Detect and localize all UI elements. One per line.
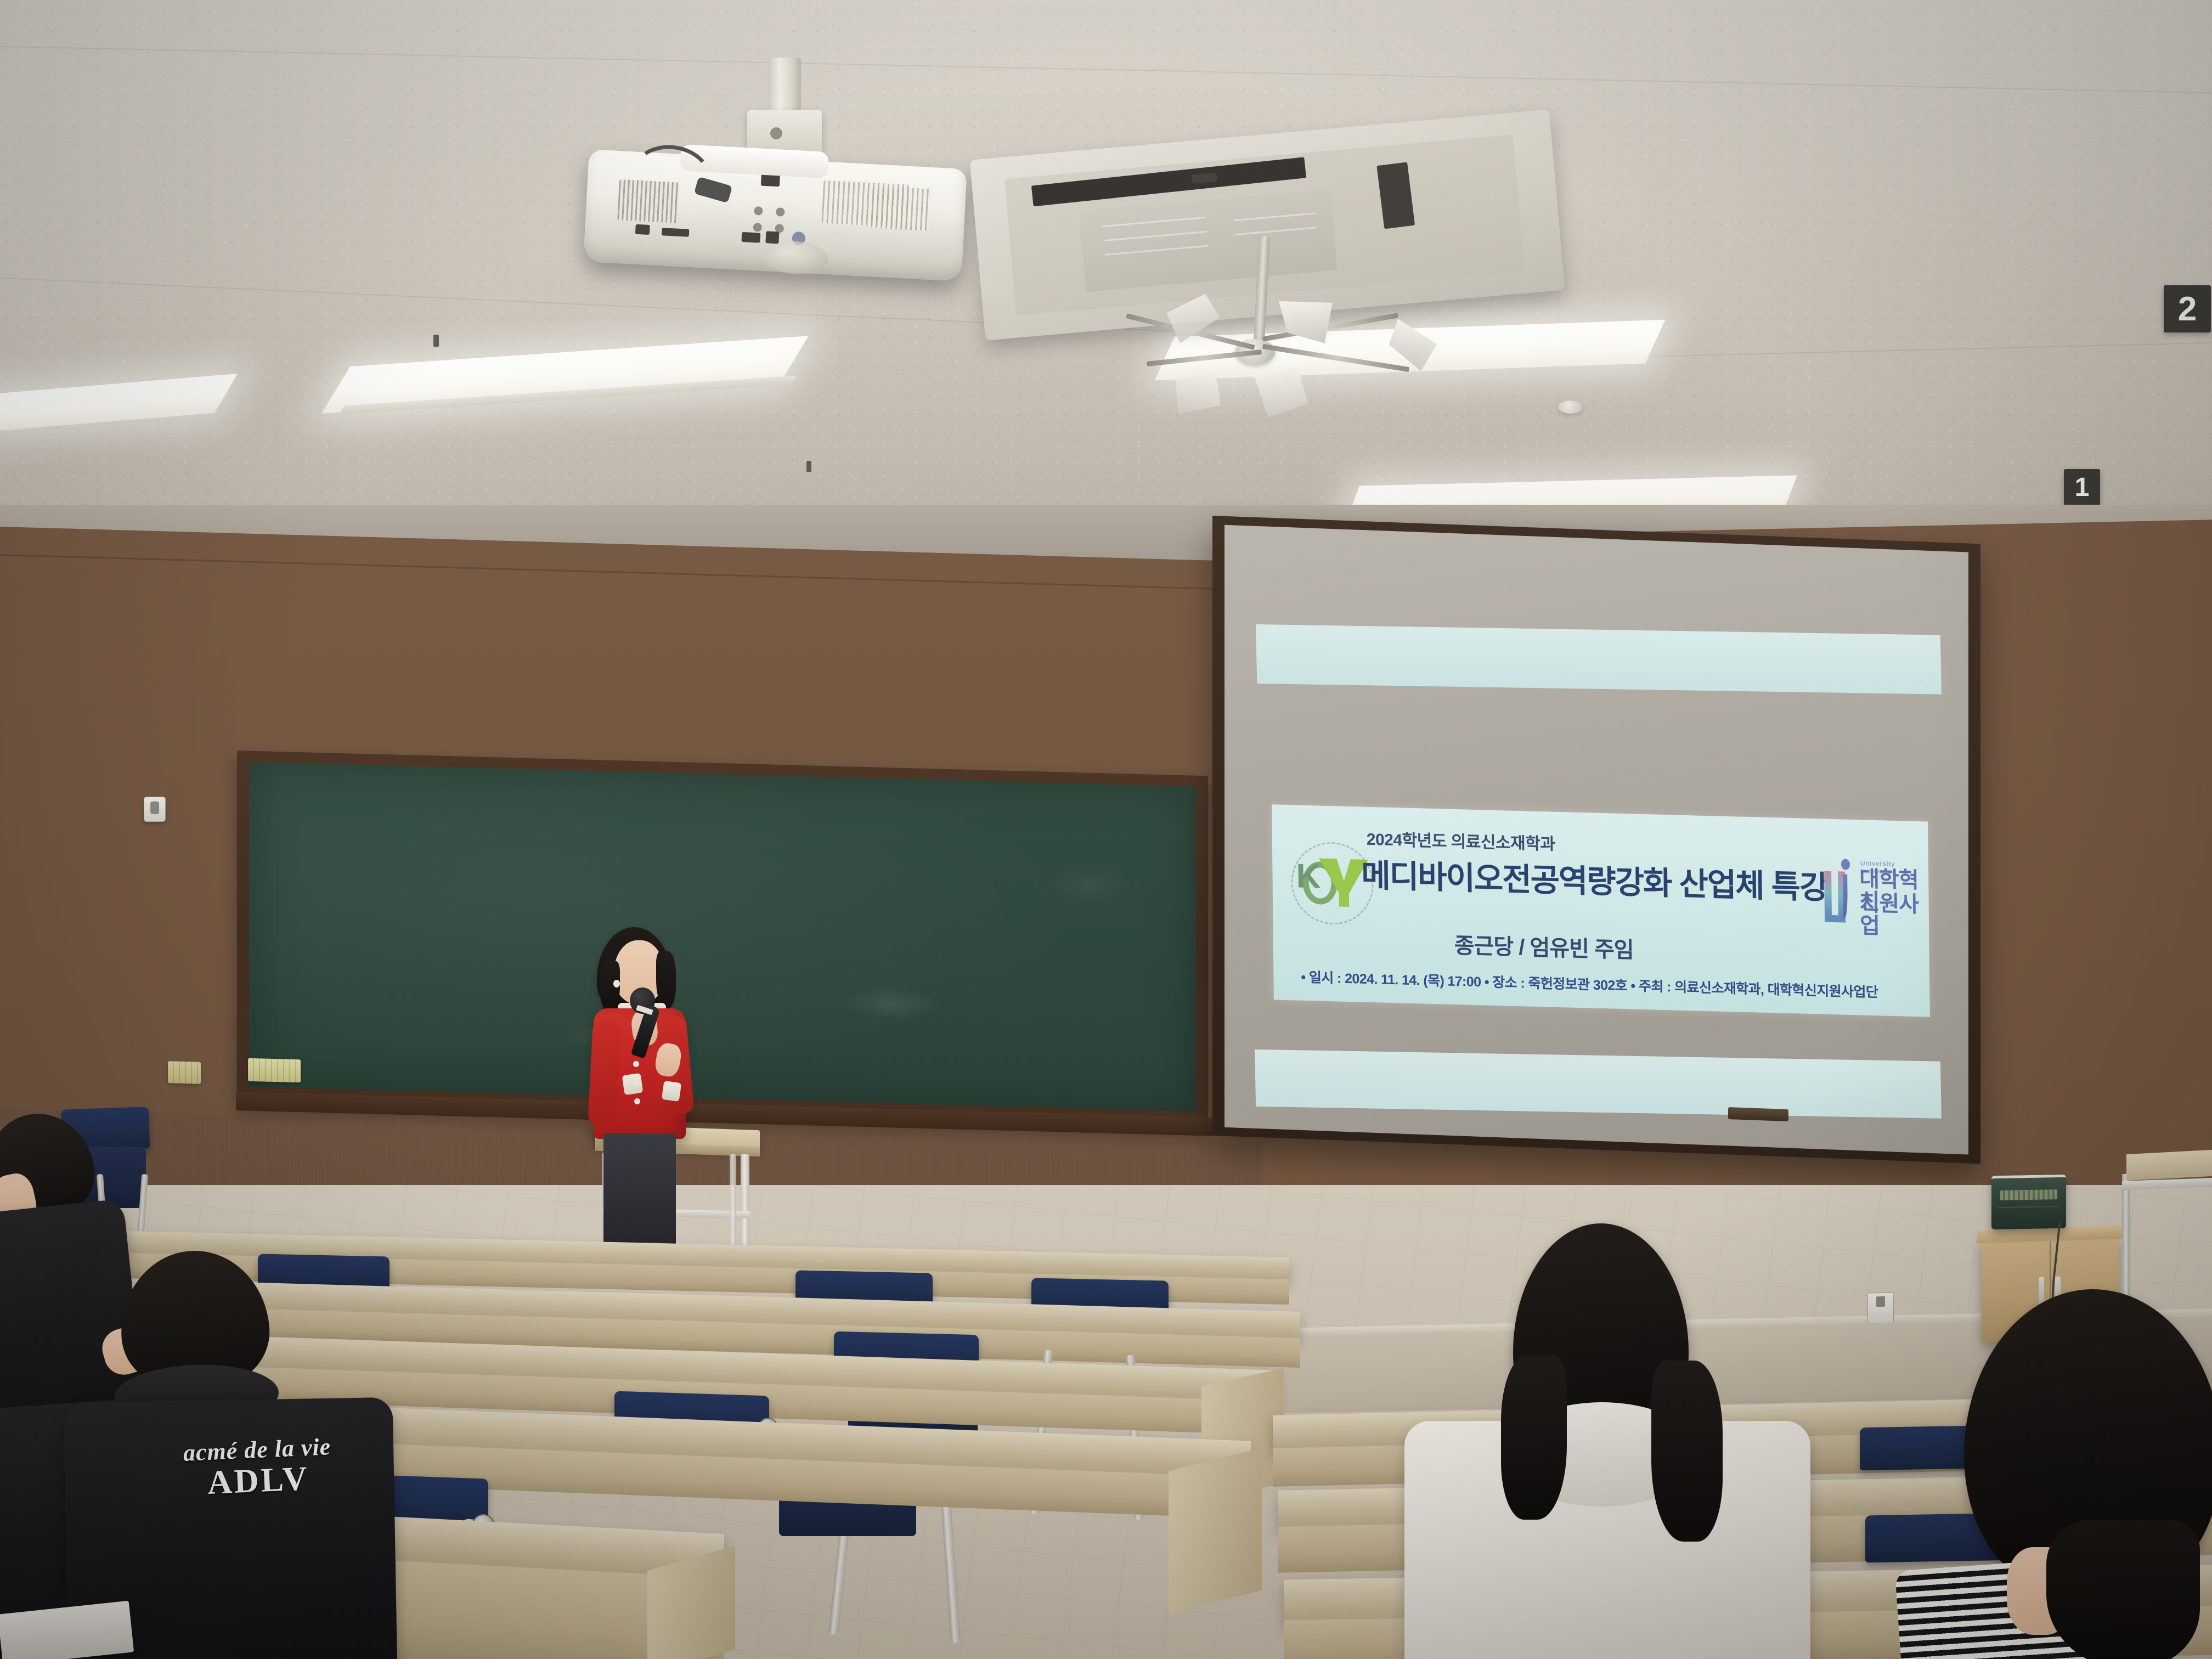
- slide-title: 메디바이오전공역량강화 산업체 특강: [1361, 850, 1828, 908]
- lecture-hall-photo: 2 1 2024학년도 의료신소재학과: [0, 0, 2212, 1659]
- presenter-left-arm: [588, 1019, 622, 1127]
- student-hair-strand: [1501, 1355, 1567, 1520]
- presenter: [582, 927, 702, 1267]
- desk-row-side: [1169, 1448, 1262, 1613]
- zone-sign-2-label: 2: [2178, 290, 2197, 329]
- wall-outlet[interactable]: [1867, 1293, 1894, 1324]
- slide-top-band: [1256, 624, 1942, 695]
- chalkboard: [249, 762, 1196, 1111]
- uj-j-shape: [1841, 863, 1852, 927]
- student-hair-front: [2046, 1520, 2200, 1659]
- screen-bottom-bar: [1728, 1107, 1788, 1121]
- amplifier[interactable]: [1991, 1175, 2066, 1229]
- chalkboard-frame: [237, 751, 1208, 1130]
- presenter-hair-side: [656, 951, 676, 1008]
- ceiling-hook: [806, 461, 811, 472]
- university-innovation-logo: University Innovation 대학혁신 지원사업: [1824, 853, 1922, 938]
- slide-bottom-band: [1255, 1049, 1942, 1119]
- projector-mount-screw: [770, 127, 782, 139]
- student-adlv-hoodie: acmé de la vie ADLV: [82, 1251, 390, 1659]
- hoodie-graphic: acmé de la vie ADLV: [142, 1432, 375, 1504]
- presenter-cuff: [622, 1073, 644, 1095]
- ceiling-hook: [433, 335, 439, 347]
- presenter-desk-leg: [741, 1154, 749, 1259]
- uj-mark: [1824, 859, 1859, 929]
- chalk-box[interactable]: [248, 1058, 301, 1083]
- slide-footer: • 일시 : 2024. 11. 14. (목) 17:00 • 장소 : 죽헌…: [1301, 967, 1878, 1002]
- student-striped-top: [1915, 1289, 2212, 1659]
- uj-logo-line2: 지원사업: [1859, 892, 1921, 939]
- slide-subtitle: 종근당 / 엄유빈 주임: [1454, 928, 1633, 964]
- student-white-hoodie: [1393, 1223, 1832, 1659]
- presenter-desk-leg: [730, 1154, 736, 1256]
- ceiling-zone-sign-2: 2: [2164, 285, 2211, 332]
- light-switch[interactable]: [144, 797, 166, 822]
- presenter-cuff: [662, 1081, 681, 1102]
- slide-content-card: 2024학년도 의료신소재학과 K 메디바이오전공역량강화 산업체 특강: [1272, 804, 1930, 1017]
- ceiling-zone-sign-1: 1: [2064, 469, 2100, 505]
- student-hair-strand: [1651, 1361, 1723, 1542]
- projected-slide: 2024학년도 의료신소재학과 K 메디바이오전공역량강화 산업체 특강: [1224, 525, 1968, 1155]
- smoke-detector: [1558, 400, 1583, 414]
- right-side-table: [2126, 1150, 2212, 1181]
- eraser[interactable]: [168, 1061, 201, 1084]
- zone-sign-1-label: 1: [2075, 472, 2090, 503]
- projection-screen-assembly: 2024학년도 의료신소재학과 K 메디바이오전공역량강화 산업체 특강: [1212, 516, 1980, 1164]
- presenter-earring: [613, 980, 620, 988]
- projector-mount-pole: [768, 58, 801, 115]
